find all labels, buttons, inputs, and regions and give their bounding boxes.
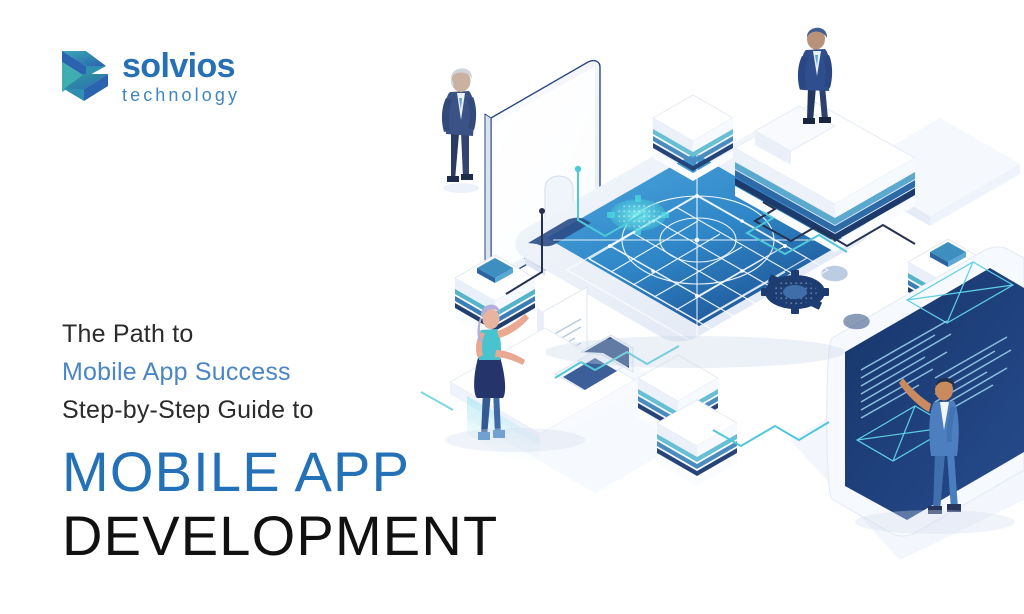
brand-logo[interactable]: solvios technology (62, 48, 240, 104)
brand-wordmark: solvios technology (122, 49, 240, 104)
businessman-standing-left (442, 68, 479, 193)
solvios-chevron-logo-icon (62, 48, 108, 104)
brand-tagline: technology (122, 86, 240, 104)
stacked-platform-block (455, 255, 535, 341)
poster-canvas: solvios technology The Path to Mobile Ap… (0, 0, 1024, 614)
gear-icon-navy (761, 270, 829, 314)
isometric-mobile-app-development-scene (395, 0, 1024, 614)
brand-name: solvios (122, 49, 240, 83)
